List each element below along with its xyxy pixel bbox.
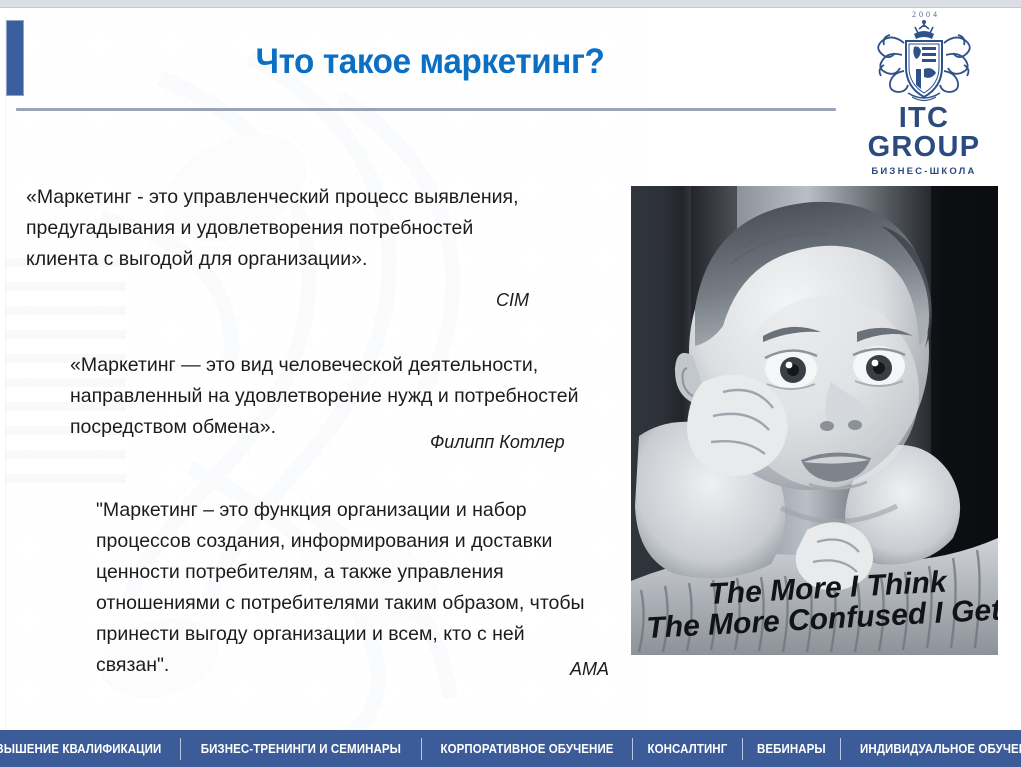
- title-divider-rule: [16, 108, 836, 111]
- quote-attribution-3: AMA: [570, 659, 609, 680]
- footer-separator: [632, 738, 633, 760]
- quote-text-2: «Маркетинг — это вид человеческой деятел…: [70, 350, 590, 443]
- crest-icon: [868, 17, 980, 103]
- quote-text-3: "Маркетинг – это функция организации и н…: [96, 495, 596, 681]
- footer-separator: [180, 738, 181, 760]
- quote-text-1: «Маркетинг - это управленческий процесс …: [26, 182, 526, 275]
- footer-item-3[interactable]: КОНСАЛТИНГ: [637, 742, 737, 756]
- itc-group-logo: 2004: [841, 10, 1007, 177]
- footer-separator: [421, 738, 422, 760]
- page-title: Что такое маркетинг?: [126, 42, 734, 82]
- baby-photo: The More I Think The More Confused I Get: [631, 186, 998, 655]
- footer-item-0[interactable]: ПОВЫШЕНИЕ КВАЛИФИКАЦИИ: [0, 742, 171, 756]
- footer-item-5[interactable]: ИНДИВИДУАЛЬНОЕ ОБУЧЕНИЕ: [850, 742, 1021, 756]
- footer-item-2[interactable]: КОРПОРАТИВНОЕ ОБУЧЕНИЕ: [430, 742, 623, 756]
- footer-item-1[interactable]: БИЗНЕС-ТРЕНИНГИ И СЕМИНАРЫ: [191, 742, 412, 756]
- footer-separator: [840, 738, 841, 760]
- presentation-slide: Что такое маркетинг? 2004: [0, 0, 1021, 767]
- quote-attribution-1: CIM: [496, 290, 529, 311]
- window-top-band: [0, 0, 1021, 7]
- footer-item-4[interactable]: ВЕБИНАРЫ: [747, 742, 836, 756]
- footer-separator: [742, 738, 743, 760]
- window-top-divider: [0, 7, 1021, 8]
- footer-nav: ПОВЫШЕНИЕ КВАЛИФИКАЦИИ БИЗНЕС-ТРЕНИНГИ И…: [0, 730, 1021, 767]
- logo-name: ITC GROUP: [841, 104, 1007, 162]
- title-accent-bar: [6, 20, 24, 96]
- watermark-left-edge: [5, 16, 6, 738]
- logo-subtitle: БИЗНЕС-ШКОЛА: [841, 166, 1007, 177]
- quote-attribution-2: Филипп Котлер: [430, 432, 565, 453]
